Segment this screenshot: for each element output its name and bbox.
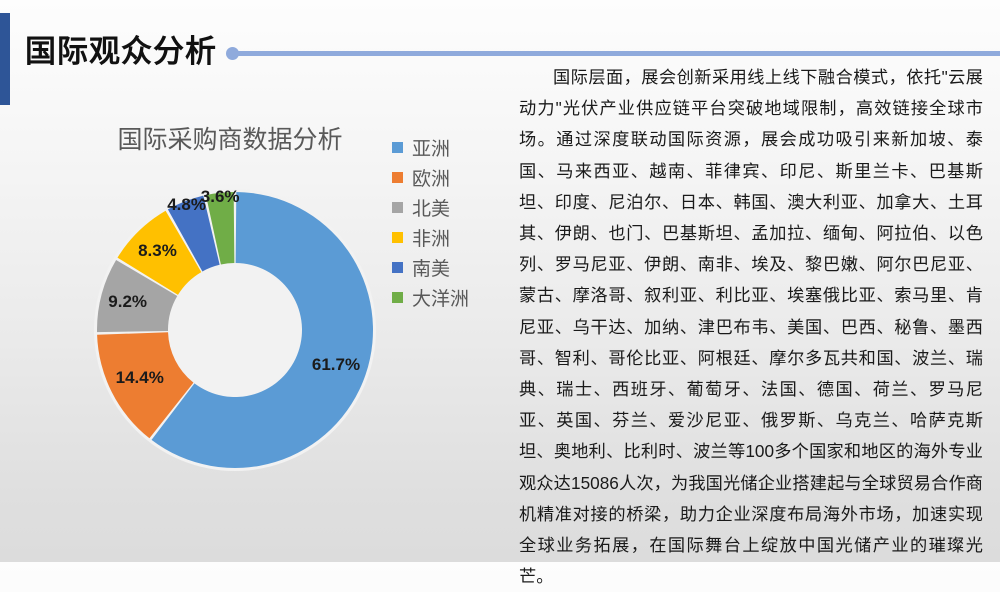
legend-swatch-icon — [392, 292, 403, 303]
legend-item[interactable]: 大洋洲 — [392, 282, 502, 312]
page-title: 国际观众分析 — [25, 26, 217, 71]
legend-swatch-icon — [392, 202, 403, 213]
legend-swatch-icon — [392, 142, 403, 153]
title-decoration-rule — [238, 51, 1000, 56]
legend-item-label: 大洋洲 — [412, 284, 469, 311]
legend-item[interactable]: 亚洲 — [392, 132, 502, 162]
chart-title: 国际采购商数据分析 — [20, 120, 440, 156]
legend-item[interactable]: 欧洲 — [392, 162, 502, 192]
donut-chart-svg — [90, 185, 380, 475]
legend-item-label: 北美 — [412, 194, 450, 221]
legend-swatch-icon — [392, 232, 403, 243]
donut-chart: 61.7%14.4%9.2%8.3%4.8%3.6% — [90, 185, 380, 475]
legend-item-label: 南美 — [412, 254, 450, 281]
body-paragraph: 国际层面，展会创新采用线上线下融合模式，依托"云展动力"光伏产业供应链平台突破地… — [519, 62, 983, 592]
legend-item-label: 欧洲 — [412, 164, 450, 191]
legend-item-label: 非洲 — [412, 224, 450, 251]
legend-item[interactable]: 北美 — [392, 192, 502, 222]
legend-item[interactable]: 非洲 — [392, 222, 502, 252]
header-accent-bar — [0, 13, 10, 105]
legend-swatch-icon — [392, 262, 403, 273]
legend-item-label: 亚洲 — [412, 134, 450, 161]
legend-swatch-icon — [392, 172, 403, 183]
chart-legend: 亚洲欧洲北美非洲南美大洋洲 — [392, 132, 502, 312]
legend-item[interactable]: 南美 — [392, 252, 502, 282]
